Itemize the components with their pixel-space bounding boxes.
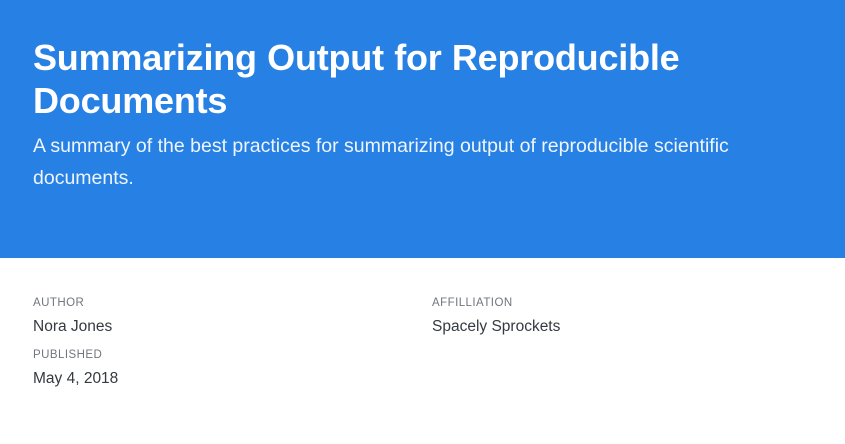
metadata-author-block: AUTHOR Nora Jones xyxy=(33,296,432,337)
metadata-affiliation-block: AFFILLIATION Spacely Sprockets xyxy=(432,296,792,337)
author-value: Nora Jones xyxy=(33,316,432,337)
metadata-published-block: PUBLISHED May 4, 2018 xyxy=(33,348,432,389)
document-page: Summarizing Output for Reproducible Docu… xyxy=(0,0,845,444)
published-label: PUBLISHED xyxy=(33,348,432,362)
document-metadata: AUTHOR Nora Jones PUBLISHED May 4, 2018 … xyxy=(0,258,845,444)
page-subtitle: A summary of the best practices for summ… xyxy=(33,130,793,194)
title-banner-content: Summarizing Output for Reproducible Docu… xyxy=(33,36,793,194)
metadata-affiliation-column: AFFILLIATION Spacely Sprockets xyxy=(432,296,792,337)
title-banner: Summarizing Output for Reproducible Docu… xyxy=(0,0,845,258)
affiliation-label: AFFILLIATION xyxy=(432,296,792,310)
page-title: Summarizing Output for Reproducible Docu… xyxy=(33,36,793,122)
metadata-grid: AUTHOR Nora Jones PUBLISHED May 4, 2018 … xyxy=(33,296,813,389)
metadata-author-column: AUTHOR Nora Jones PUBLISHED May 4, 2018 xyxy=(33,296,432,389)
affiliation-value: Spacely Sprockets xyxy=(432,316,792,337)
published-value: May 4, 2018 xyxy=(33,368,432,389)
author-label: AUTHOR xyxy=(33,296,432,310)
